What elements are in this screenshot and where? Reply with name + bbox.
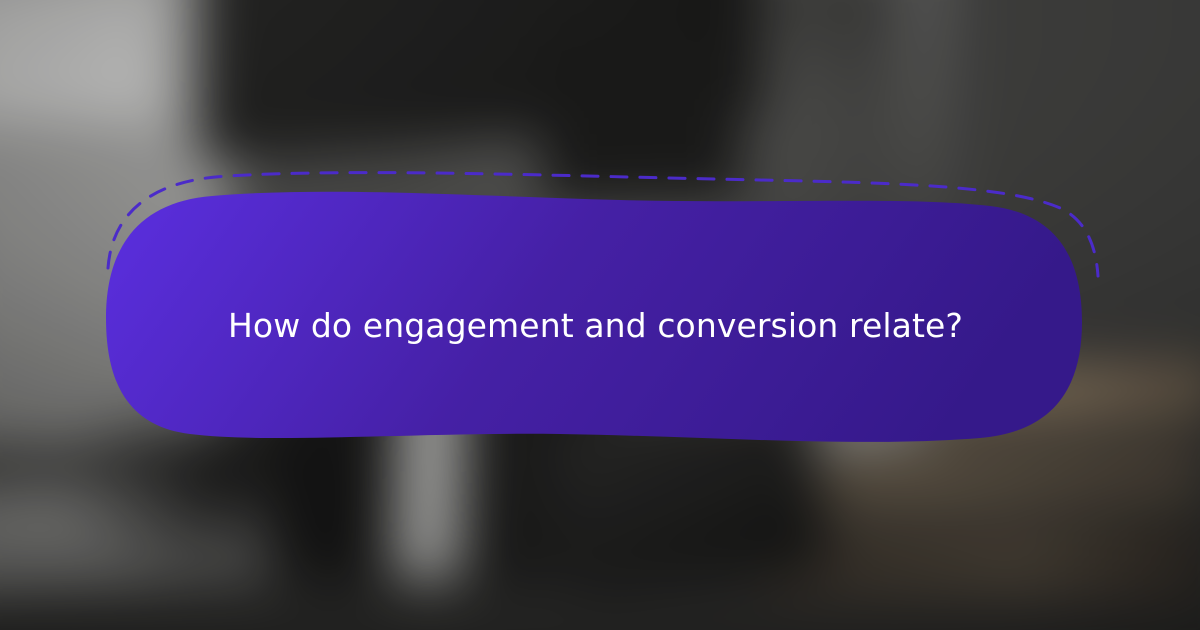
social-card: How do engagement and conversion relate?	[0, 0, 1200, 630]
card-headline: How do engagement and conversion relate?	[228, 305, 1028, 347]
